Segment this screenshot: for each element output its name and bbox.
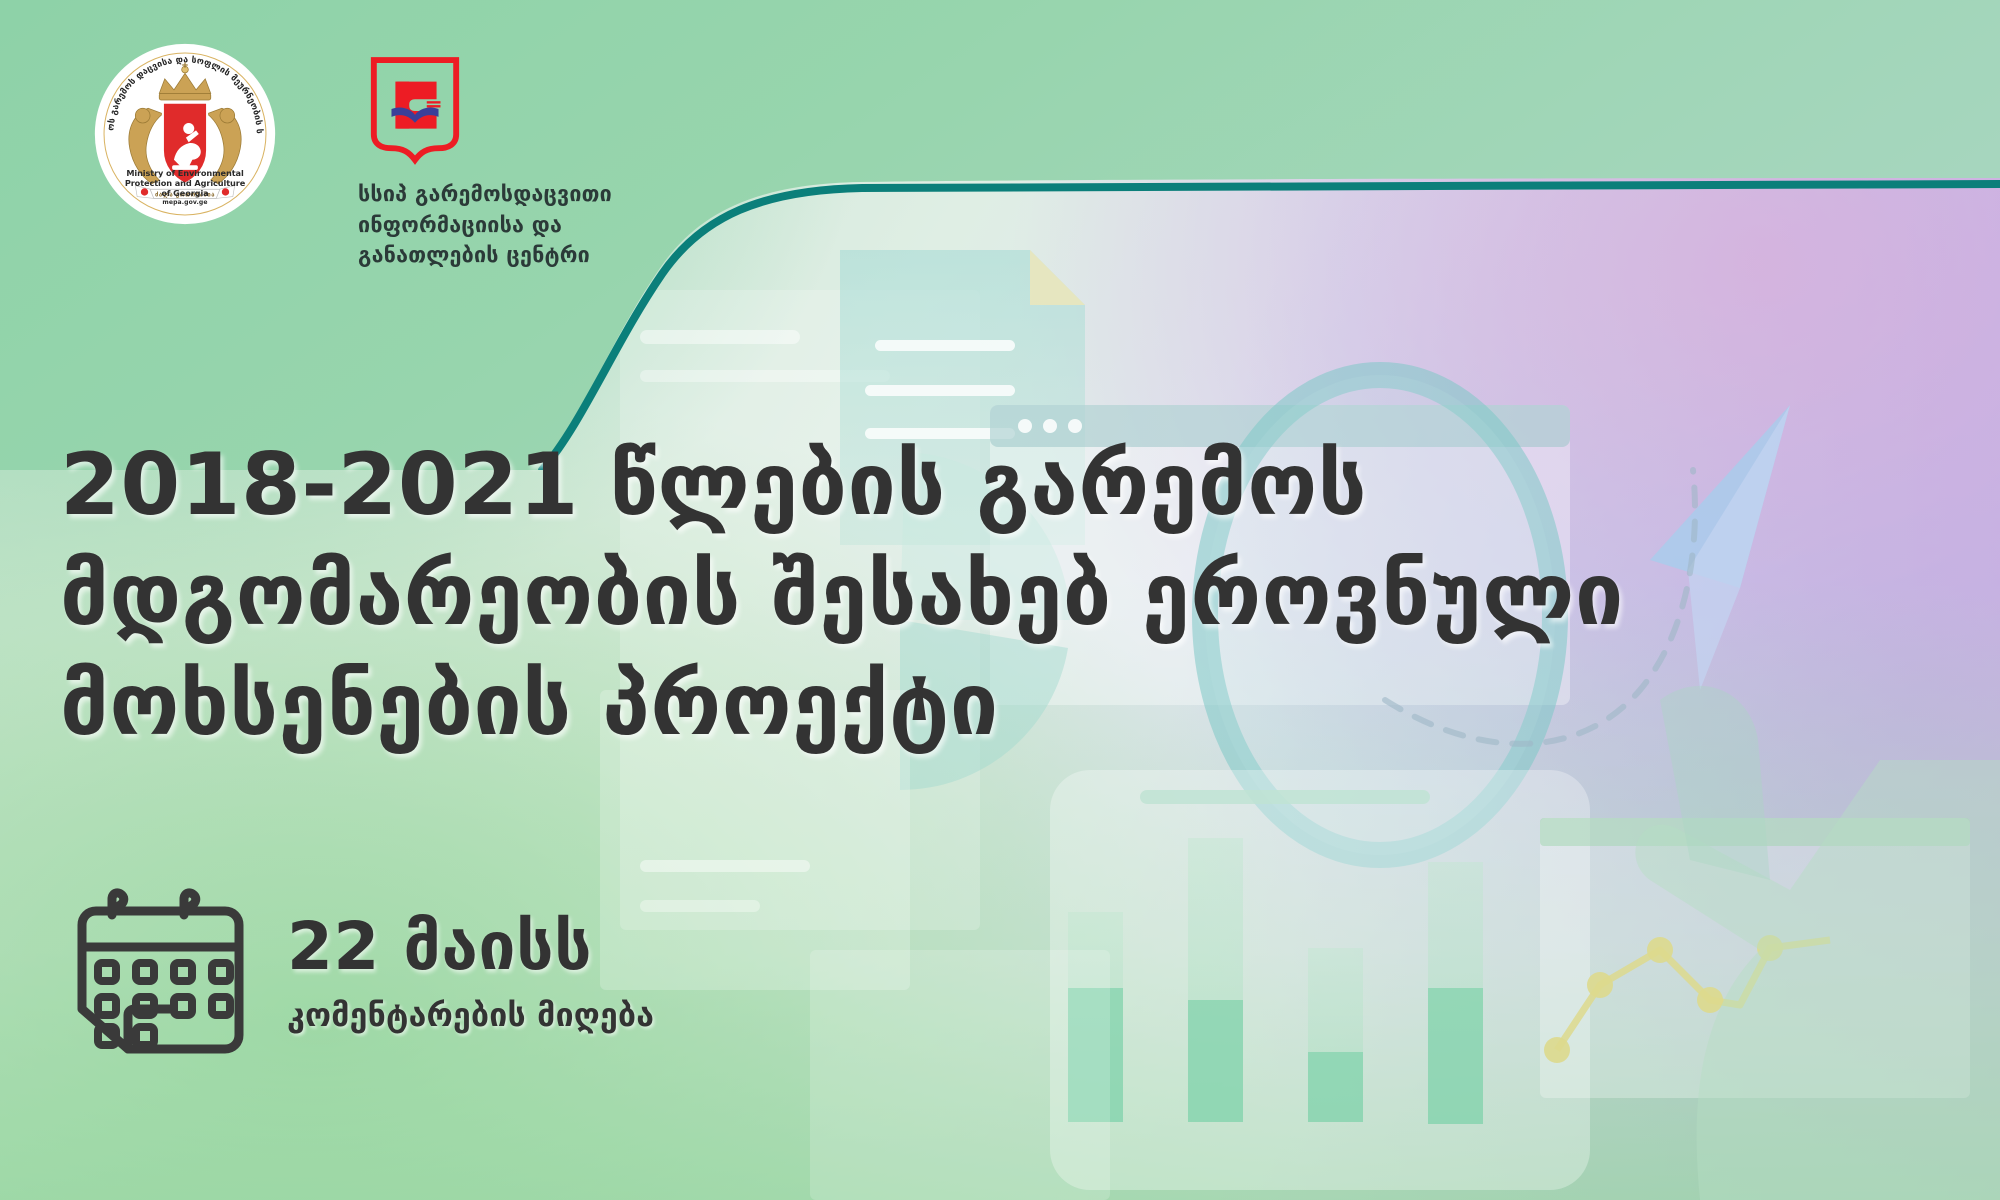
title-line-1: 2018-2021 წლების გარემოს <box>60 430 1860 540</box>
deadline-date: 22 მაისს <box>287 912 654 981</box>
emblem-en-line3: of Georgia <box>93 188 277 198</box>
center-logo-line2: ინფორმაციისა და <box>358 211 698 242</box>
center-logo-line3: განათლების ცენტრი <box>358 241 698 272</box>
calendar-icon <box>68 885 253 1070</box>
deadline-text: 22 მაისს კომენტარების მიღება <box>287 912 654 1043</box>
emblem-english-name: Ministry of Environmental Protection and… <box>93 168 277 206</box>
emblem-en-line1: Ministry of Environmental <box>93 168 277 178</box>
emblem-url: mepa.gov.ge <box>93 198 277 206</box>
center-logo-line1: სსიპ გარემოსდაცვითი <box>358 180 698 211</box>
ministry-emblem: საქართველოს გარემოს დაცვისა და სოფლის მე… <box>93 42 277 226</box>
poster-canvas: საქართველოს გარემოს დაცვისა და სოფლის მე… <box>0 0 2000 1200</box>
page-title: 2018-2021 წლების გარემოს მდგომარეობის შე… <box>60 430 1860 760</box>
center-logo-text: სსიპ გარემოსდაცვითი ინფორმაციისა და განა… <box>358 180 698 272</box>
title-line-3: მოხსენების პროექტი <box>60 650 1860 760</box>
shield-book-logo-icon <box>366 54 464 166</box>
emblem-en-line2: Protection and Agriculture <box>93 178 277 188</box>
deadline-block: 22 მაისს კომენტარების მიღება <box>68 885 654 1070</box>
deadline-caption: კომენტარების მიღება <box>287 981 654 1037</box>
header-band <box>0 0 2000 470</box>
title-line-2: მდგომარეობის შესახებ ეროვნული <box>60 540 1860 650</box>
